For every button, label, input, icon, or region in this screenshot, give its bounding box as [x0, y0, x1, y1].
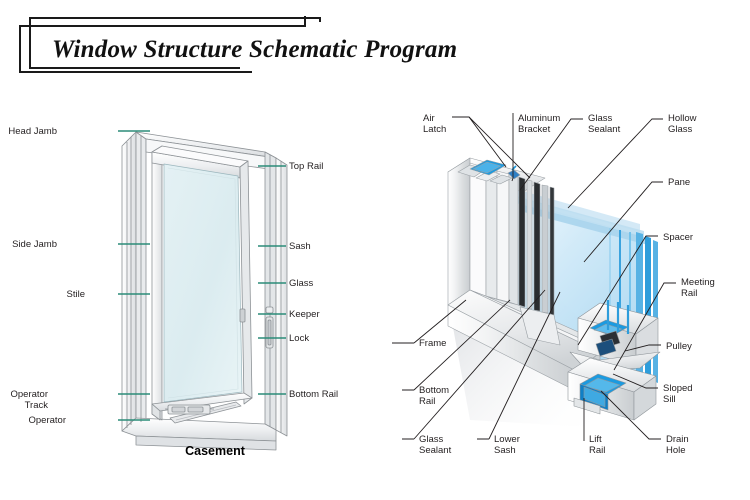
- schematic-page: Window Structure Schematic Program: [0, 0, 750, 500]
- air-latch-leader: [452, 117, 506, 167]
- label-stile: Stile: [67, 289, 85, 300]
- label-glass: Glass: [289, 278, 313, 289]
- label-head-jamb: Head Jamb: [8, 126, 57, 137]
- label-operator-track: Operator Track: [0, 389, 48, 411]
- label-pulley: Pulley: [666, 341, 692, 352]
- label-air-latch: Air Latch: [423, 113, 446, 135]
- label-lower-sash: Lower Sash: [494, 434, 520, 456]
- label-spacer: Spacer: [663, 232, 693, 243]
- label-meeting-rail: Meeting Rail: [681, 277, 715, 299]
- label-side-jamb: Side Jamb: [12, 239, 57, 250]
- label-keeper: Keeper: [289, 309, 320, 320]
- label-glass-sealant-top: Glass Sealant: [588, 113, 620, 135]
- label-sloped-sill: Sloped Sill: [663, 383, 693, 405]
- label-aluminum-bracket: Aluminum Bracket: [518, 113, 560, 135]
- label-pane: Pane: [668, 177, 690, 188]
- label-lift-rail: Lift Rail: [589, 434, 605, 456]
- label-drain-hole: Drain Hole: [666, 434, 689, 456]
- label-lock: Lock: [289, 333, 309, 344]
- label-bottom-rail: Bottom Rail: [419, 385, 449, 407]
- label-top-rail: Top Rail: [289, 161, 323, 172]
- label-bottom-rail: Bottom Rail: [289, 389, 338, 400]
- casement-caption: Casement: [140, 444, 290, 458]
- label-glass-sealant-bottom: Glass Sealant: [419, 434, 451, 456]
- label-sash: Sash: [289, 241, 311, 252]
- label-frame: Frame: [419, 338, 446, 349]
- label-operator: Operator: [29, 415, 67, 426]
- cross-section-diagram-art: [0, 0, 750, 500]
- label-hollow-glass: Hollow Glass: [668, 113, 697, 135]
